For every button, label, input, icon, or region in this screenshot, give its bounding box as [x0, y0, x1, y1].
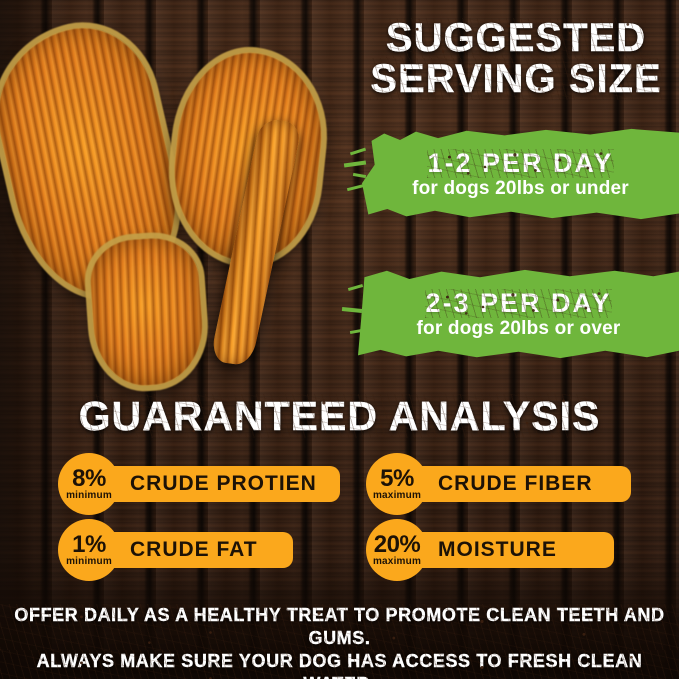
analysis-pill-bar: CRUDE PROTIEN — [88, 466, 340, 502]
page-title: SUGGESTED SERVING SIZE — [358, 18, 674, 100]
usage-instructions: OFFER DAILY AS A HEALTHY TREAT TO PROMOT… — [0, 604, 679, 679]
analysis-qualifier: maximum — [373, 556, 421, 567]
usage-instructions-line1: OFFER DAILY AS A HEALTHY TREAT TO PROMOT… — [0, 604, 679, 650]
page-title-line1: SUGGESTED — [386, 18, 646, 58]
serving-banner-2: 2-3 PER DAY for dogs 20lbs or over — [358, 268, 679, 360]
analysis-percent: 20% — [374, 534, 421, 556]
analysis-pill-badge: 20% maximum — [366, 519, 428, 581]
guaranteed-analysis-heading: GUARANTEED ANALYSIS — [0, 394, 679, 438]
analysis-pill-badge: 1% minimum — [58, 519, 120, 581]
analysis-pill-badge: 5% maximum — [366, 453, 428, 515]
page-title-line2: SERVING SIZE — [370, 58, 661, 100]
analysis-qualifier: minimum — [66, 490, 112, 501]
chew-small — [87, 234, 207, 389]
usage-instructions-line2: ALWAYS MAKE SURE YOUR DOG HAS ACCESS TO … — [0, 650, 679, 679]
analysis-pill-bar: CRUDE FIBER — [396, 466, 631, 502]
analysis-nutrient-label: CRUDE FIBER — [438, 472, 593, 496]
analysis-pill-badge: 8% minimum — [58, 453, 120, 515]
product-label-graphic: SUGGESTED SERVING SIZE 1-2 PER DAY for d… — [0, 0, 679, 679]
analysis-nutrient-label: CRUDE FAT — [130, 538, 258, 562]
analysis-qualifier: maximum — [373, 490, 421, 501]
guaranteed-analysis-label: GUARANTEED ANALYSIS — [79, 393, 601, 439]
analysis-qualifier: minimum — [66, 556, 112, 567]
analysis-percent: 1% — [72, 534, 106, 556]
analysis-pill-bar: MOISTURE — [396, 532, 614, 568]
analysis-nutrient-label: MOISTURE — [438, 538, 557, 562]
serving-banner-1: 1-2 PER DAY for dogs 20lbs or under — [362, 128, 679, 220]
analysis-percent: 5% — [380, 468, 414, 490]
analysis-percent: 8% — [72, 468, 106, 490]
serving-headline-2: 2-3 PER DAY — [425, 288, 611, 318]
analysis-nutrient-label: CRUDE PROTIEN — [130, 472, 317, 496]
serving-subtext-2: for dogs 20lbs or over — [417, 318, 621, 340]
product-photo — [0, 0, 370, 392]
serving-headline-1: 1-2 PER DAY — [427, 148, 613, 178]
serving-subtext-1: for dogs 20lbs or under — [412, 178, 629, 200]
